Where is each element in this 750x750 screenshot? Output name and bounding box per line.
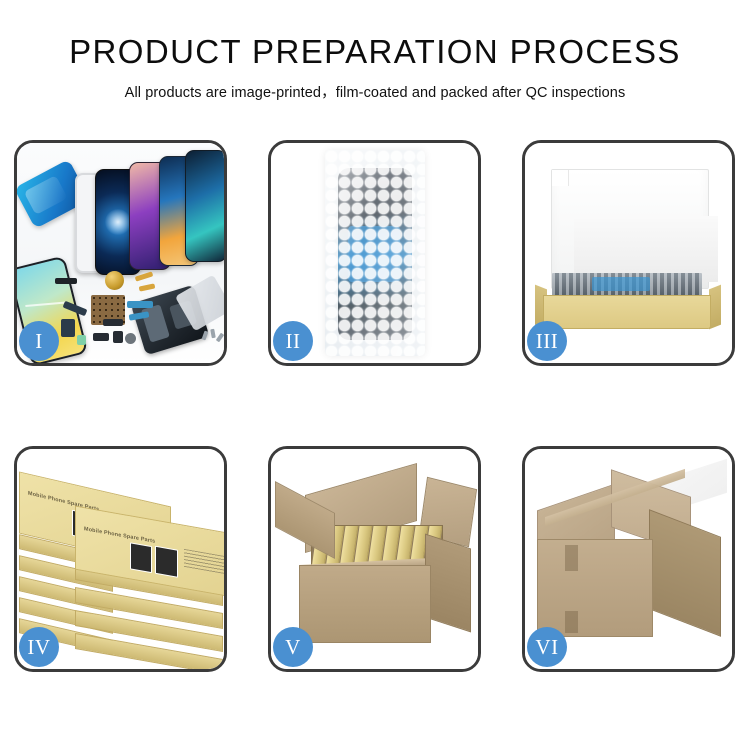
step-panel-3: III	[522, 140, 735, 366]
plastic-sheen	[325, 150, 425, 356]
carton-front-face	[299, 565, 431, 643]
button-part-icon	[125, 333, 136, 344]
carton-seam-bottom	[565, 611, 578, 633]
open-carton-icon	[277, 469, 473, 649]
small-part-4-icon	[103, 319, 123, 326]
speaker-part-icon	[55, 278, 77, 284]
header: PRODUCT PREPARATION PROCESS All products…	[0, 0, 750, 102]
steps-grid: I II	[14, 140, 736, 672]
step-badge-5: V	[273, 627, 313, 667]
product-preparation-infographic: PRODUCT PREPARATION PROCESS All products…	[0, 0, 750, 750]
step-badge-4: IV	[19, 627, 59, 667]
screws-icon	[203, 329, 224, 347]
step-panel-4: Mobile Phone Spare Parts Mobile Phone Sp…	[14, 446, 227, 672]
step-badge-1: I	[19, 321, 59, 361]
copper-coil-icon	[105, 271, 124, 290]
page-title: PRODUCT PREPARATION PROCESS	[0, 34, 750, 70]
carton-side-face	[425, 534, 471, 633]
step-badge-2: II	[273, 321, 313, 361]
open-mailer-box-icon	[535, 169, 721, 329]
step-panel-1: I	[14, 140, 227, 366]
small-part-3-icon	[77, 335, 86, 345]
bubble-wrap-package-icon	[325, 150, 425, 356]
step-badge-6: VI	[527, 627, 567, 667]
step-panel-2: II	[268, 140, 481, 366]
flex-cable-3-icon	[127, 301, 153, 308]
small-part-1-icon	[93, 333, 109, 341]
step-panel-5: V	[268, 446, 481, 672]
carton-side-face	[649, 509, 721, 637]
box-print-screen-1	[130, 542, 152, 573]
step-badge-3: III	[527, 321, 567, 361]
page-subtitle: All products are image-printed，film-coat…	[0, 81, 750, 102]
small-part-2-icon	[113, 331, 123, 343]
phone-screen-teal-icon	[185, 150, 224, 262]
step-panel-6: VI	[522, 446, 735, 672]
flex-cable-2-icon	[61, 319, 75, 337]
carton-front-face	[537, 539, 653, 637]
box-lid-open	[551, 169, 709, 289]
carton-seam-top	[565, 545, 578, 571]
box-print-screen-2	[155, 546, 178, 578]
sealed-carton-icon	[537, 475, 727, 645]
box-front-panel	[543, 295, 711, 329]
